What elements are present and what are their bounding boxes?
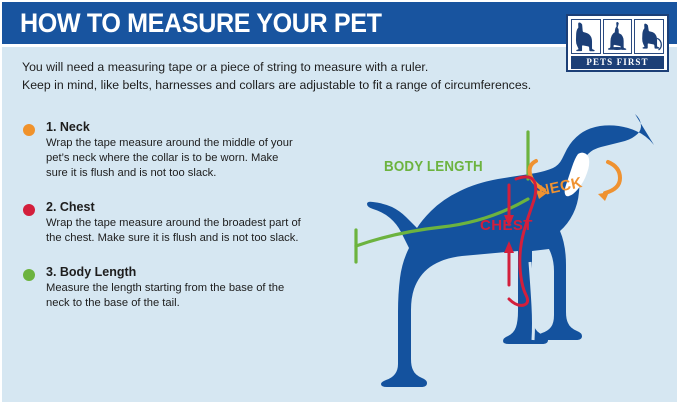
annotation-label-body-length: BODY LENGTH bbox=[384, 159, 483, 175]
step-body-body-length: Measure the length starting from the bas… bbox=[46, 281, 302, 311]
step-body-chest: Wrap the tape measure around the broades… bbox=[46, 216, 302, 246]
step-title-body-length: 3. Body Length bbox=[46, 265, 302, 279]
dog-measurement-diagram: BODY LENGTH NECK CHEST bbox=[302, 107, 679, 404]
dog-diagram-svg bbox=[302, 107, 679, 404]
step-body-neck: Wrap the tape measure around the middle … bbox=[46, 136, 302, 181]
intro-line-1: You will need a measuring tape or a piec… bbox=[22, 59, 562, 77]
intro-line-2: Keep in mind, like belts, harnesses and … bbox=[22, 77, 562, 95]
step-item-neck: 1. Neck Wrap the tape measure around the… bbox=[22, 120, 302, 181]
step-title-chest: 2. Chest bbox=[46, 200, 302, 214]
step-bullet-body-length bbox=[23, 269, 35, 281]
page-title: HOW TO MEASURE YOUR PET bbox=[20, 8, 382, 39]
measure-your-pet-poster: HOW TO MEASURE YOUR PET P bbox=[0, 0, 679, 404]
step-bullet-chest bbox=[23, 204, 35, 216]
step-item-body-length: 3. Body Length Measure the length starti… bbox=[22, 265, 302, 311]
measurement-steps-list: 1. Neck Wrap the tape measure around the… bbox=[22, 120, 302, 330]
step-title-neck: 1. Neck bbox=[46, 120, 302, 134]
dog-begging-icon bbox=[603, 19, 633, 54]
intro-paragraph: You will need a measuring tape or a piec… bbox=[22, 59, 562, 94]
step-item-chest: 2. Chest Wrap the tape measure around th… bbox=[22, 200, 302, 246]
annotation-label-chest: CHEST bbox=[480, 217, 533, 234]
pets-first-logo: PETS FIRST bbox=[566, 14, 669, 72]
logo-wordmark: PETS FIRST bbox=[571, 56, 664, 69]
dog-standing-icon bbox=[634, 19, 664, 54]
logo-icon-row bbox=[571, 19, 664, 54]
dog-sitting-icon bbox=[571, 19, 601, 54]
step-bullet-neck bbox=[23, 124, 35, 136]
